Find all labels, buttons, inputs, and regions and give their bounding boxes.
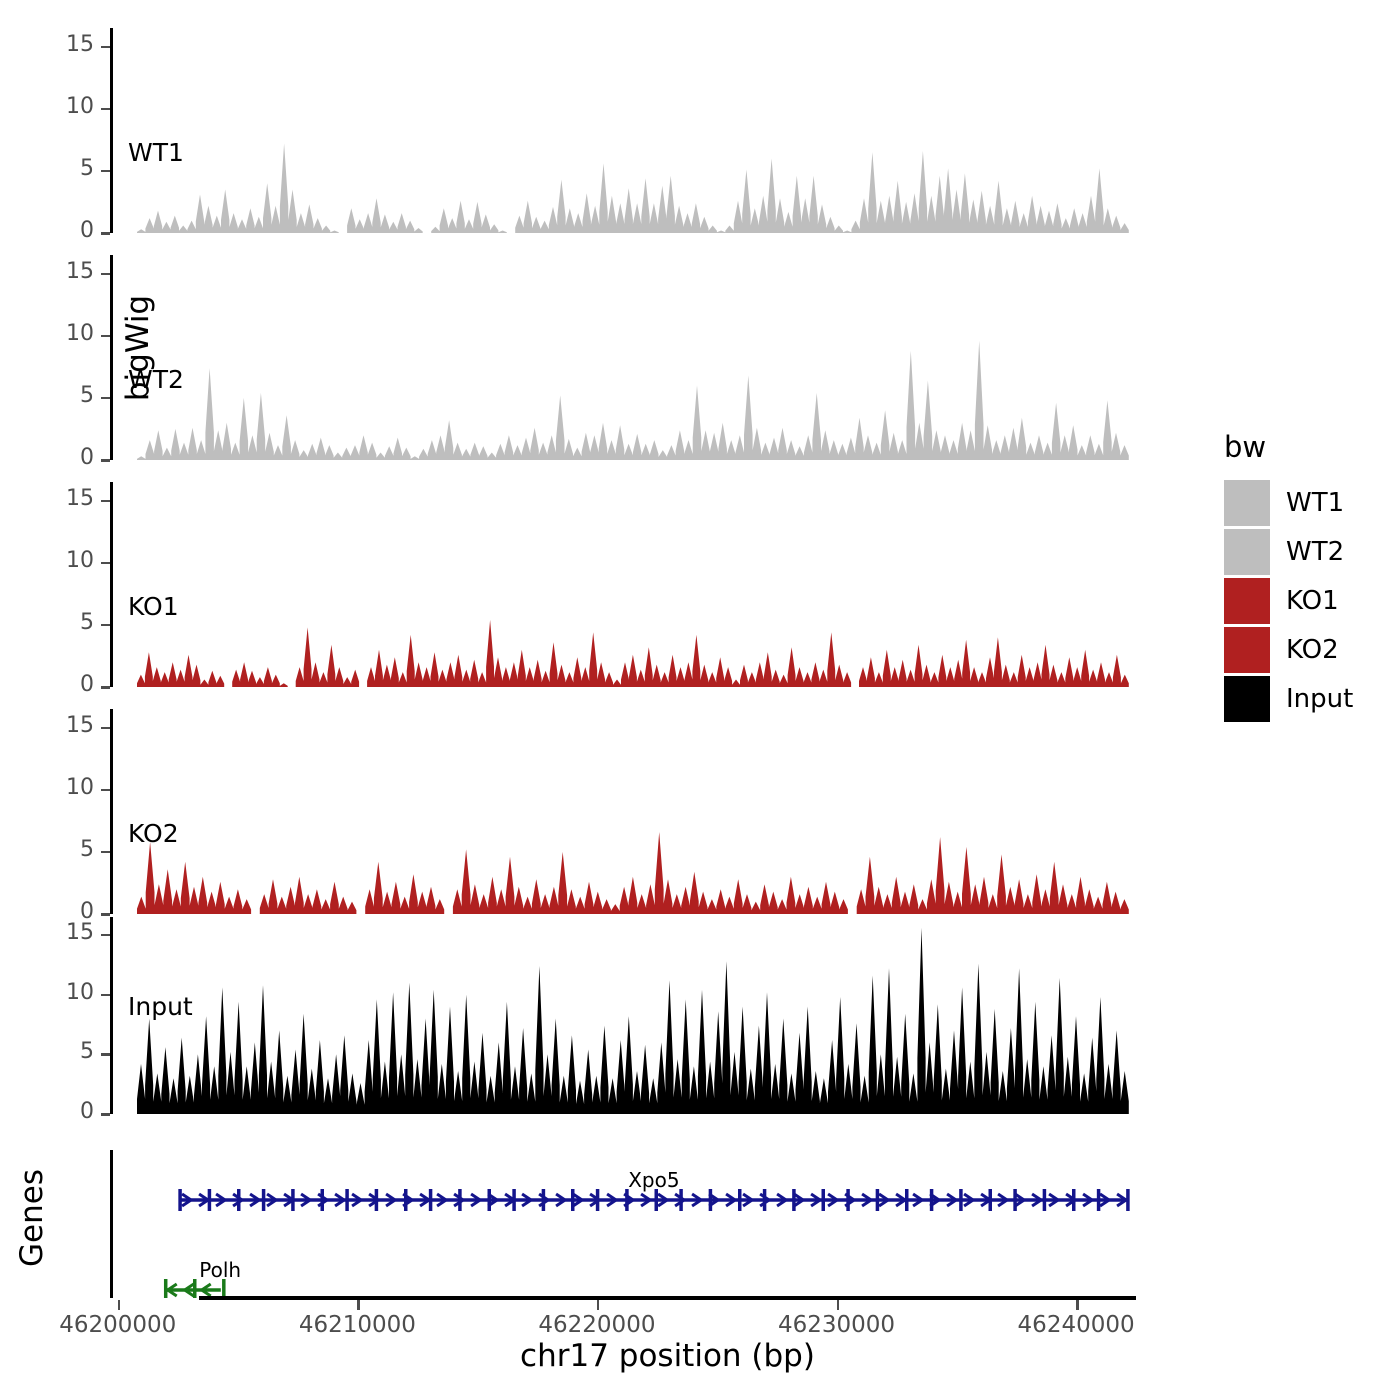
track-panel-input: 051015Input <box>110 917 1136 1114</box>
legend-item-ko2[interactable]: KO2 <box>1224 625 1353 674</box>
x-tick <box>1076 1300 1079 1310</box>
y-tick <box>101 851 110 854</box>
y-tick <box>101 232 110 235</box>
y-tick-label: 15 <box>24 920 94 945</box>
legend-swatch <box>1224 529 1270 575</box>
coverage-plot-ko2 <box>113 709 1136 914</box>
y-tick-label: 10 <box>24 775 94 800</box>
x-tick-label: 46240000 <box>976 1312 1176 1338</box>
y-tick-label: 5 <box>24 610 94 635</box>
x-tick <box>357 1300 360 1310</box>
y-tick-label: 10 <box>24 980 94 1005</box>
y-tick <box>101 913 110 916</box>
track-panel-ko2: 051015KO2 <box>110 709 1136 914</box>
y-tick-label: 5 <box>24 837 94 862</box>
x-tick <box>837 1300 840 1310</box>
legend-swatch <box>1224 676 1270 722</box>
x-tick-label: 46230000 <box>737 1312 937 1338</box>
y-tick-label: 5 <box>24 1039 94 1064</box>
legend-label: WT1 <box>1286 488 1344 518</box>
y-tick <box>101 686 110 689</box>
y-tick-label: 0 <box>24 218 94 243</box>
legend-label: KO1 <box>1286 586 1339 616</box>
x-tick <box>118 1300 121 1310</box>
y-tick <box>101 727 110 730</box>
coverage-plot-wt1 <box>113 28 1136 233</box>
y-tick-label: 0 <box>24 672 94 697</box>
y-tick <box>101 335 110 338</box>
x-axis-line <box>199 1296 1136 1300</box>
genes-plot-area: Xpo5Polh <box>113 1150 1136 1302</box>
track-panel-wt1: 051015WT1 <box>110 28 1136 233</box>
y-tick-label: 10 <box>24 94 94 119</box>
gene-label-xpo5: Xpo5 <box>628 1168 679 1192</box>
legend-swatch <box>1224 627 1270 673</box>
coverage-plot-input <box>113 917 1136 1114</box>
legend-item-wt1[interactable]: WT1 <box>1224 478 1353 527</box>
figure-canvas: bigWig Genes chr17 position (bp) 051015W… <box>0 0 1400 1400</box>
coverage-plot-wt2 <box>113 255 1136 460</box>
y-tick <box>101 994 110 997</box>
y-tick-label: 5 <box>24 383 94 408</box>
gene-label-polh: Polh <box>199 1258 241 1282</box>
gene-xpo5[interactable] <box>180 1189 1128 1211</box>
y-tick <box>101 397 110 400</box>
legend-swatch <box>1224 578 1270 624</box>
track-panel-wt2: 051015WT2 <box>110 255 1136 460</box>
y-tick <box>101 500 110 503</box>
legend-item-input[interactable]: Input <box>1224 674 1353 723</box>
y-tick <box>101 108 110 111</box>
coverage-plot-ko1 <box>113 482 1136 687</box>
y-tick <box>101 562 110 565</box>
y-tick-label: 15 <box>24 259 94 284</box>
legend-label: WT2 <box>1286 537 1344 567</box>
y-tick-label: 15 <box>24 486 94 511</box>
x-tick-label: 46220000 <box>497 1312 697 1338</box>
y-tick <box>101 1053 110 1056</box>
y-tick-label: 15 <box>24 32 94 57</box>
legend-label: Input <box>1286 684 1353 714</box>
y-tick-label: 10 <box>24 548 94 573</box>
genes-axis-title: Genes <box>14 1148 50 1288</box>
legend-items: WT1WT2KO1KO2Input <box>1224 478 1353 723</box>
y-tick <box>101 789 110 792</box>
y-tick <box>101 624 110 627</box>
y-tick-label: 0 <box>24 445 94 470</box>
x-tick-label: 46210000 <box>257 1312 457 1338</box>
legend-label: KO2 <box>1286 635 1339 665</box>
legend: bw WT1WT2KO1KO2Input <box>1224 430 1353 723</box>
y-tick <box>101 934 110 937</box>
y-tick <box>101 1113 110 1116</box>
y-tick <box>101 170 110 173</box>
track-panel-ko1: 051015KO1 <box>110 482 1136 687</box>
y-tick <box>101 46 110 49</box>
x-axis-title: chr17 position (bp) <box>199 1338 1136 1374</box>
x-tick <box>597 1300 600 1310</box>
y-tick-label: 0 <box>24 1099 94 1124</box>
y-tick-label: 5 <box>24 156 94 181</box>
y-tick-label: 10 <box>24 321 94 346</box>
legend-title: bw <box>1224 430 1353 464</box>
y-tick <box>101 459 110 462</box>
legend-item-wt2[interactable]: WT2 <box>1224 527 1353 576</box>
legend-item-ko1[interactable]: KO1 <box>1224 576 1353 625</box>
y-tick-label: 15 <box>24 713 94 738</box>
x-tick-label: 46200000 <box>18 1312 218 1338</box>
legend-swatch <box>1224 480 1270 526</box>
y-tick <box>101 273 110 276</box>
